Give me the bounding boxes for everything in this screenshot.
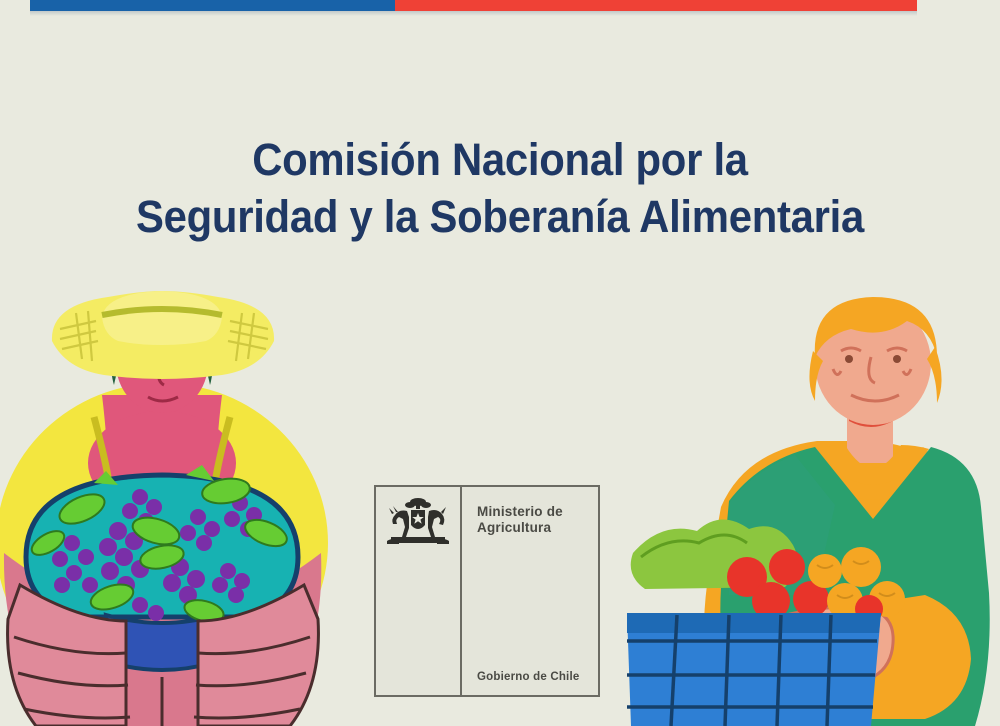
logo-emblem-pane	[376, 487, 462, 695]
flag-bar-blue-segment	[30, 0, 395, 11]
slide-title: Comisión Nacional por la Seguridad y la …	[35, 131, 965, 245]
ministry-name-line-1: Ministerio de	[477, 504, 563, 520]
flag-bar-shadow	[30, 11, 917, 16]
title-line-2: Seguridad y la Soberanía Alimentaria	[35, 188, 965, 245]
logo-text-pane: Ministerio de Agricultura Gobierno de Ch…	[462, 487, 598, 695]
chilean-coat-of-arms-icon	[385, 497, 451, 551]
flag-bar-red-segment	[395, 0, 917, 11]
government-label: Gobierno de Chile	[477, 671, 579, 683]
slide-canvas: Comisión Nacional por la Seguridad y la …	[0, 0, 1000, 726]
ministry-logo-box: Ministerio de Agricultura Gobierno de Ch…	[374, 485, 600, 697]
title-line-1: Comisión Nacional por la	[35, 131, 965, 188]
chile-flag-bar	[30, 0, 917, 11]
ministry-name-line-2: Agricultura	[477, 520, 563, 536]
man-with-vegetable-crate-illustration	[625, 295, 1000, 726]
woman-with-grape-basket-illustration	[0, 285, 340, 726]
ministry-name: Ministerio de Agricultura	[477, 504, 563, 536]
